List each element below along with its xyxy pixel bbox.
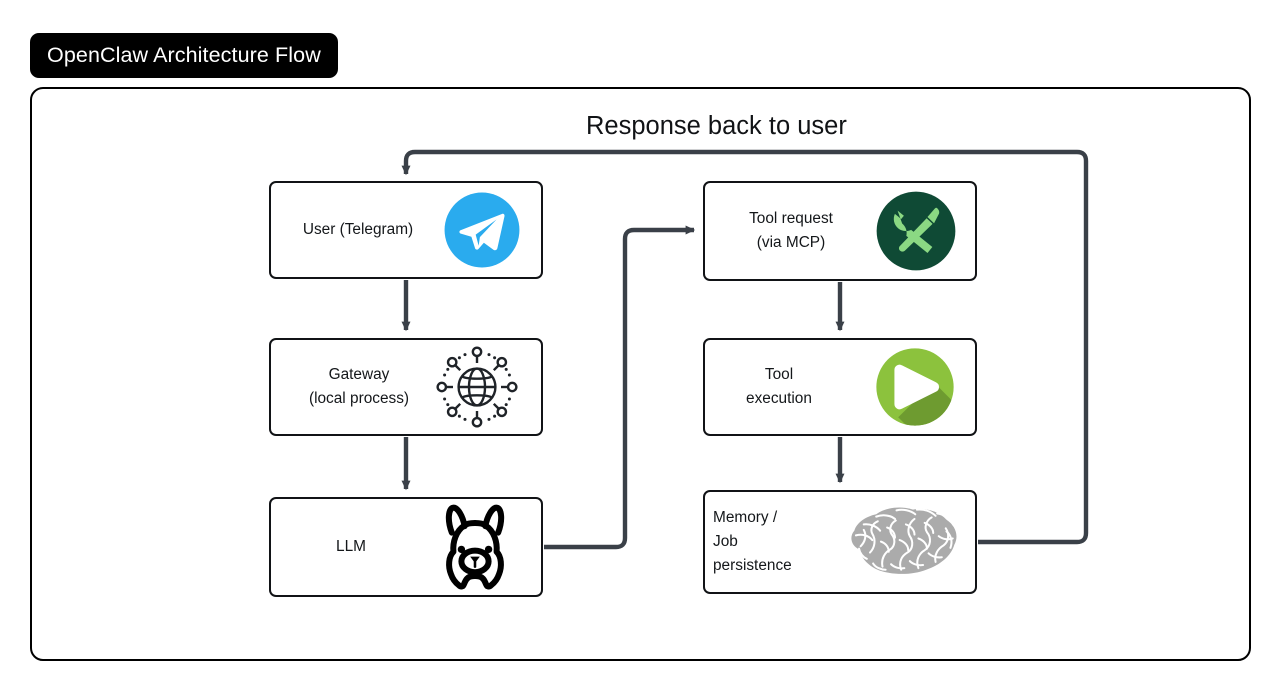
- llama-icon: [427, 499, 523, 595]
- edge-label-response-back-to-user: Response back to user: [586, 112, 847, 141]
- node-user-telegram-label: User (Telegram): [271, 218, 445, 242]
- diagram-frame: [30, 87, 1251, 661]
- page-title: OpenClaw Architecture Flow: [47, 43, 321, 68]
- node-gateway-label: Gateway (local process): [271, 363, 447, 411]
- node-tool-request-label: Tool request (via MCP): [705, 207, 877, 255]
- node-llm-label: LLM: [271, 535, 431, 559]
- node-memory-job-persistence[interactable]: Memory / Job persistence: [703, 490, 977, 594]
- globe-network-icon: [429, 339, 525, 435]
- telegram-icon: [443, 191, 521, 269]
- node-tool-execution[interactable]: Tool execution: [703, 338, 977, 436]
- wrench-screwdriver-icon: [875, 190, 957, 272]
- diagram-title-chip: OpenClaw Architecture Flow: [30, 33, 338, 78]
- node-memory-label: Memory / Job persistence: [713, 506, 849, 578]
- node-tool-request-via-mcp[interactable]: Tool request (via MCP): [703, 181, 977, 281]
- node-llm[interactable]: LLM: [269, 497, 543, 597]
- node-tool-execution-label: Tool execution: [705, 363, 853, 411]
- brain-icon: [835, 501, 969, 583]
- node-gateway-local-process[interactable]: Gateway (local process): [269, 338, 543, 436]
- play-button-icon: [873, 345, 957, 429]
- node-user-telegram[interactable]: User (Telegram): [269, 181, 543, 279]
